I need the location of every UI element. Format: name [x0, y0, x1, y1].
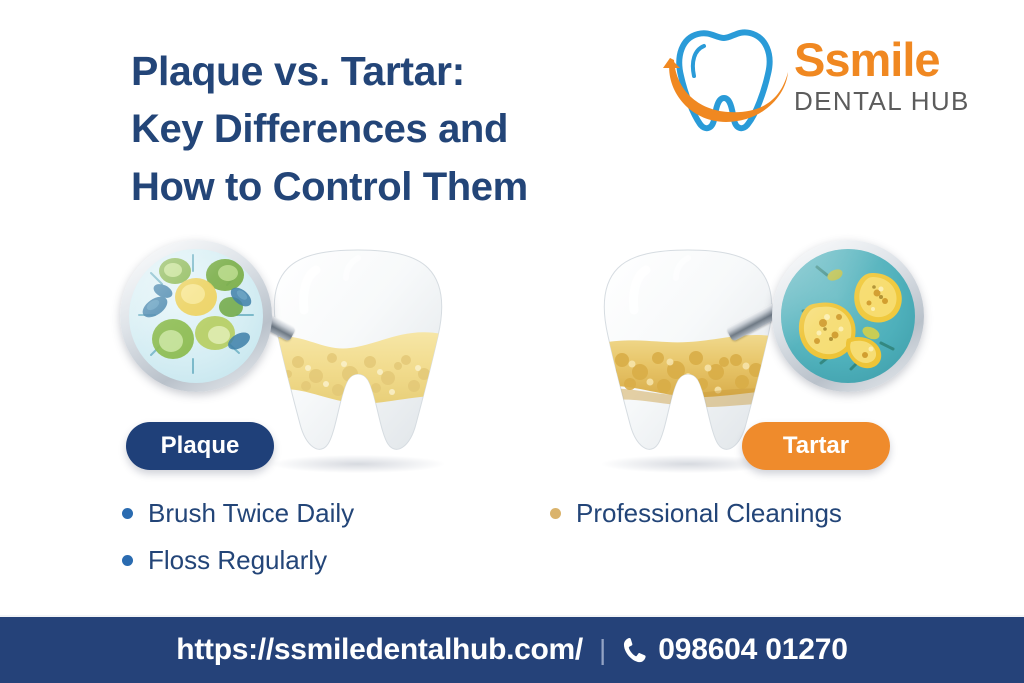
plaque-magnifier [120, 240, 272, 392]
magnifier-glass-tartar [781, 249, 915, 383]
magnifier-ring [120, 240, 272, 392]
status-badge-tartar[interactable]: Tartar [742, 422, 890, 470]
magnifier-ring [772, 240, 924, 392]
list-item: Brush Twice Daily [122, 498, 354, 528]
magnifier-glass-plaque [129, 249, 263, 383]
logo-wordmark: Ssmile DENTAL HUB [794, 36, 970, 116]
tooth-logo-icon [660, 18, 790, 136]
footer-content: https://ssmiledentalhub.com/ | 098604 01… [176, 633, 847, 667]
list-item: Floss Regularly [122, 545, 354, 575]
phone-number[interactable]: 098604 01270 [658, 633, 847, 667]
bullet-dot-icon [122, 555, 133, 566]
list-item-label: Professional Cleanings [576, 498, 842, 528]
bullet-dot-icon [550, 508, 561, 519]
infographic-canvas: Plaque vs. Tartar: Key Differences and H… [0, 0, 1024, 683]
list-item: Professional Cleanings [550, 498, 842, 528]
title-line-1: Plaque vs. Tartar: [131, 42, 651, 100]
brand-logo[interactable]: Ssmile DENTAL HUB [660, 18, 990, 136]
title-line-3: How to Control Them [131, 158, 651, 216]
tartar-tips-list: Professional Cleanings [550, 498, 842, 545]
badge-label: Tartar [783, 432, 849, 460]
page-title: Plaque vs. Tartar: Key Differences and H… [131, 42, 651, 216]
list-item-label: Floss Regularly [148, 545, 327, 575]
logo-sub-text: DENTAL HUB [794, 86, 970, 116]
phone-icon [622, 636, 648, 664]
tooth-with-plaque [258, 244, 458, 469]
tartar-magnifier [772, 240, 924, 392]
status-badge-plaque[interactable]: Plaque [126, 422, 274, 470]
footer-bar: https://ssmiledentalhub.com/ | 098604 01… [0, 615, 1024, 683]
logo-brand-text: Ssmile [794, 36, 970, 84]
website-url[interactable]: https://ssmiledentalhub.com/ [176, 633, 583, 667]
list-item-label: Brush Twice Daily [148, 498, 354, 528]
plaque-tips-list: Brush Twice Daily Floss Regularly [122, 498, 354, 592]
tooth-shadow [272, 455, 444, 473]
title-line-2: Key Differences and [131, 100, 651, 158]
bullet-dot-icon [122, 508, 133, 519]
badge-label: Plaque [161, 432, 240, 460]
footer-separator: | [599, 634, 606, 666]
